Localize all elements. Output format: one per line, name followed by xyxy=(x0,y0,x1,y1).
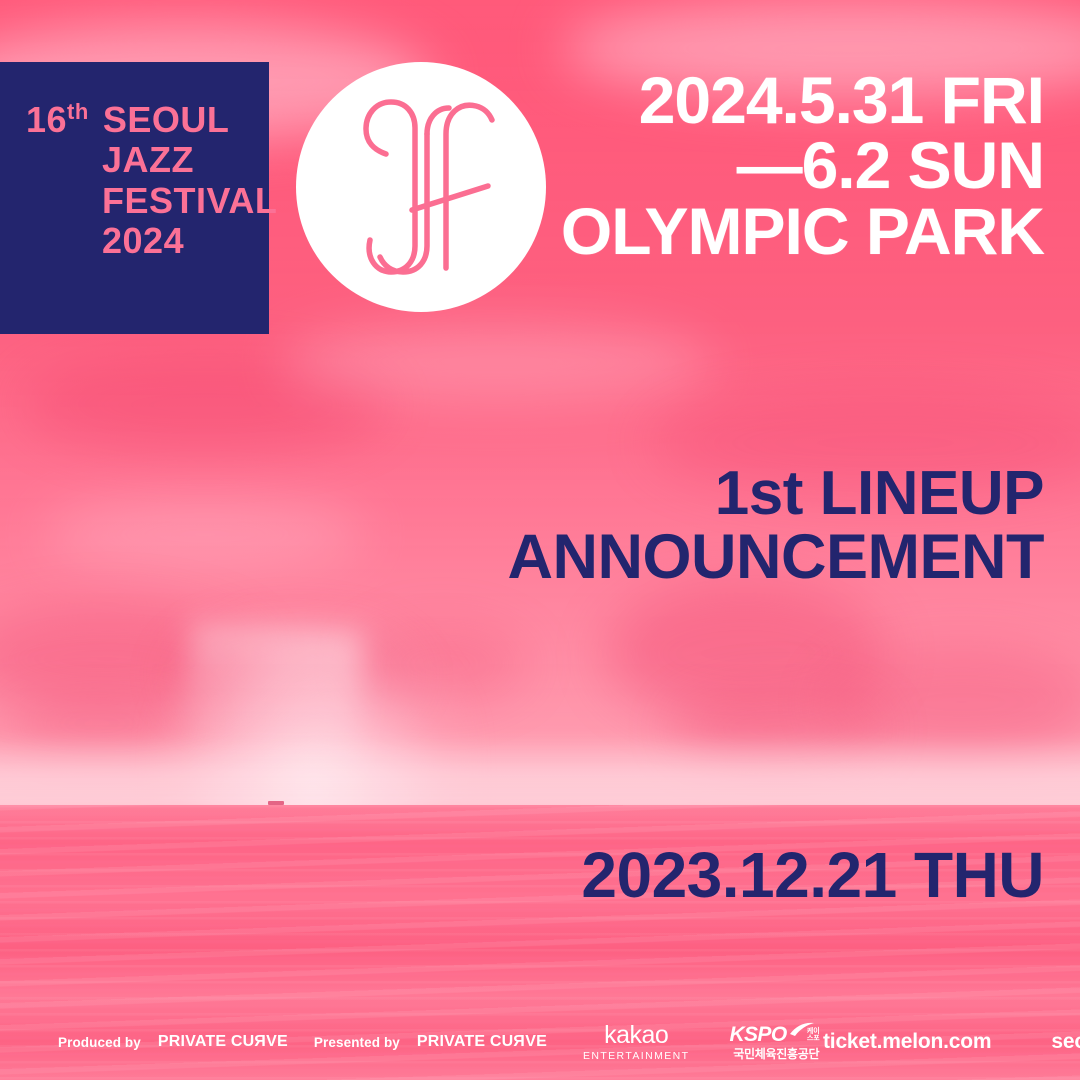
produced-by-label: Produced by xyxy=(58,1035,141,1050)
event-headline: 2024.5.31 FRI —6.2 SUN OLYMPIC PARK xyxy=(561,68,1044,264)
title-line-4: 2024 xyxy=(26,221,269,261)
title-word-seoul: SEOUL xyxy=(103,99,230,140)
ticket-url[interactable]: ticket.melon.com xyxy=(823,1030,991,1054)
brand-reversed-r: R xyxy=(513,1033,525,1051)
official-site-url[interactable]: seouljazz.co.kr xyxy=(1051,1030,1080,1054)
footer-bar: Produced by PRIVATE CURVE Presented by P… xyxy=(0,1004,1080,1080)
announcement-date: 2023.12.21 THU xyxy=(581,843,1044,907)
brand-post: VE xyxy=(266,1033,288,1050)
private-curve-logo-produced: PRIVATE CURVE xyxy=(158,1033,288,1051)
festival-title-box: 16thSEOUL JAZZ FESTIVAL 2024 xyxy=(0,62,269,334)
presented-by-label: Presented by xyxy=(314,1035,400,1050)
brand-pre: PRIVATE CU xyxy=(417,1033,514,1050)
kspo-korean-name: 국민체육진흥공단 xyxy=(733,1048,819,1060)
headline-date-end: —6.2 SUN xyxy=(561,133,1044,198)
kspo-top-row: KSPO 케이스포 xyxy=(729,1024,823,1045)
edition-number: 16 xyxy=(26,99,67,140)
title-line-2: JAZZ xyxy=(26,140,269,180)
kspo-logo: KSPO 케이스포 국민체육진흥공단 xyxy=(729,1024,823,1060)
edition-ordinal: th xyxy=(67,99,89,124)
kakao-subtitle: ENTERTAINMENT xyxy=(583,1051,689,1062)
private-curve-logo-presented: PRIVATE CURVE xyxy=(417,1033,547,1051)
sjf-logo xyxy=(296,62,546,312)
credit-presented-by: Presented by PRIVATE CURVE xyxy=(314,1033,547,1051)
headline-date-start: 2024.5.31 FRI xyxy=(561,68,1044,133)
lineup-announcement: 1st LINEUP ANNOUNCEMENT xyxy=(508,462,1044,589)
brand-pre: PRIVATE CU xyxy=(158,1033,255,1050)
headline-venue: OLYMPIC PARK xyxy=(561,199,1044,264)
title-line-3: FESTIVAL xyxy=(26,181,269,221)
lineup-line-2: ANNOUNCEMENT xyxy=(508,525,1044,589)
brand-post: VE xyxy=(525,1033,547,1050)
festival-poster: 16thSEOUL JAZZ FESTIVAL 2024 2024.5.31 F… xyxy=(0,0,1080,1080)
footer-sponsors: Produced by PRIVATE CURVE Presented by P… xyxy=(58,1023,823,1062)
brand-reversed-r: R xyxy=(254,1033,266,1051)
kakao-wordmark: kakao xyxy=(604,1023,668,1048)
kspo-swoosh-icon xyxy=(789,1024,805,1040)
title-line-1: 16thSEOUL xyxy=(26,100,269,140)
credit-produced-by: Produced by PRIVATE CURVE xyxy=(58,1033,288,1051)
kspo-wordmark: KSPO xyxy=(729,1024,786,1045)
kakao-entertainment-logo: kakao ENTERTAINMENT xyxy=(583,1023,689,1062)
lineup-line-1: 1st LINEUP xyxy=(508,462,1044,525)
sjf-monogram-icon xyxy=(296,62,546,312)
footer-links: ticket.melon.com seouljazz.co.kr xyxy=(823,1030,1080,1054)
